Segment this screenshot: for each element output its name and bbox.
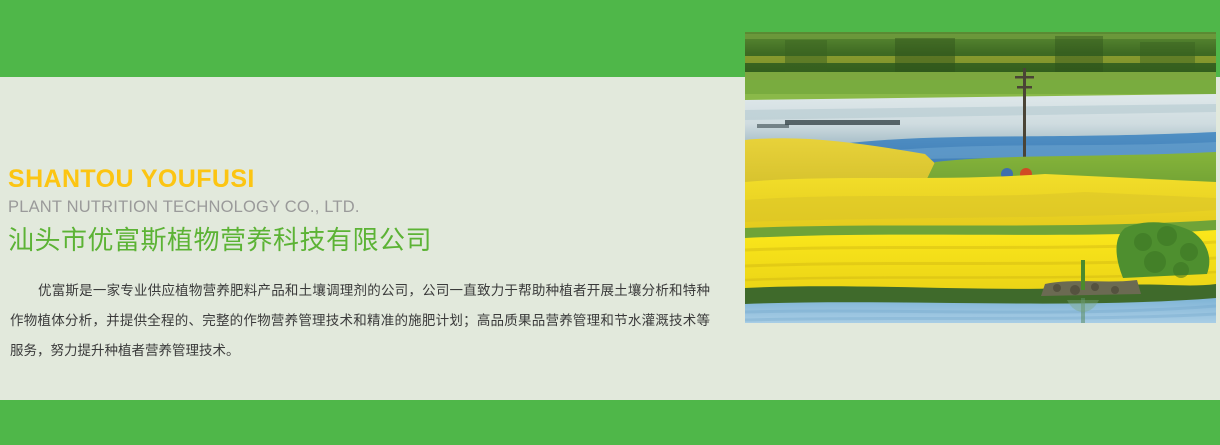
rice-field-photo-illustration	[745, 32, 1216, 323]
brand-block: SHANTOU YOUFUSI PLANT NUTRITION TECHNOLO…	[8, 164, 728, 258]
rice-field-photo	[745, 32, 1216, 323]
brand-name-cn: 汕头市优富斯植物营养科技有限公司	[8, 224, 728, 258]
page-root: SHANTOU YOUFUSI PLANT NUTRITION TECHNOLO…	[0, 0, 1220, 445]
brand-tagline-en: PLANT NUTRITION TECHNOLOGY CO., LTD.	[8, 196, 728, 218]
bottom-green-bar	[0, 400, 1220, 445]
company-intro-paragraph: 优富斯是一家专业供应植物营养肥料产品和土壤调理剂的公司，公司一直致力于帮助种植者…	[10, 276, 710, 366]
brand-name-en: SHANTOU YOUFUSI	[8, 164, 728, 194]
